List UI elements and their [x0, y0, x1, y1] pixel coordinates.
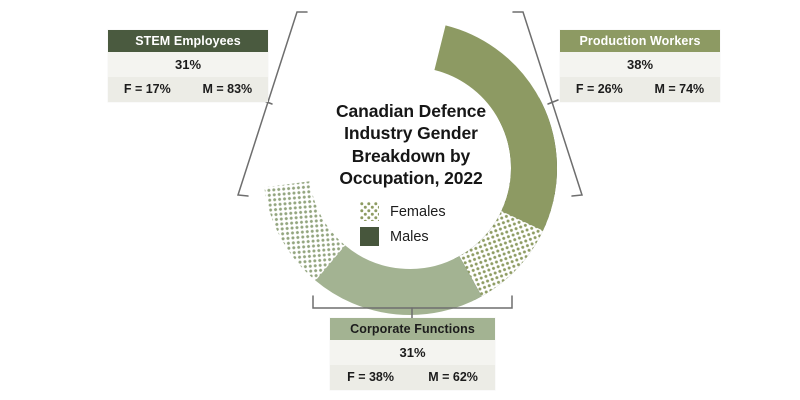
center-title-line-1: Canadian Defence — [300, 100, 522, 122]
chart-center-title: Canadian Defence Industry Gender Breakdo… — [300, 100, 522, 190]
callout-corporate-title: Corporate Functions — [330, 318, 495, 340]
callout-stem-female-value: F = 17% — [124, 77, 171, 102]
callout-production-female-value: F = 26% — [576, 77, 623, 102]
callout-stem-total: 31% — [108, 52, 268, 77]
callout-production-title: Production Workers — [560, 30, 720, 52]
infographic-canvas: Canadian Defence Industry Gender Breakdo… — [0, 0, 800, 400]
callout-stem-split: F = 17% M = 83% — [108, 77, 268, 102]
chart-legend: Females Males — [360, 200, 446, 250]
legend-item-males: Males — [360, 225, 446, 248]
callout-stem-employees: STEM Employees 31% F = 17% M = 83% — [108, 30, 268, 102]
center-title-line-4: Occupation, 2022 — [300, 167, 522, 189]
callout-corporate-functions: Corporate Functions 31% F = 38% M = 62% — [330, 318, 495, 390]
callout-corporate-total: 31% — [330, 340, 495, 365]
callout-production-split: F = 26% M = 74% — [560, 77, 720, 102]
solid-fill-swatch-icon — [360, 227, 379, 246]
callout-production-total: 38% — [560, 52, 720, 77]
callout-stem-male-value: M = 83% — [202, 77, 252, 102]
dotted-pattern-swatch-icon — [360, 202, 379, 221]
center-title-line-2: Industry Gender — [300, 122, 522, 144]
callout-corporate-split: F = 38% M = 62% — [330, 365, 495, 390]
callout-production-workers: Production Workers 38% F = 26% M = 74% — [560, 30, 720, 102]
legend-label-males: Males — [390, 229, 429, 245]
callout-production-male-value: M = 74% — [654, 77, 704, 102]
callout-corporate-female-value: F = 38% — [347, 365, 394, 390]
center-title-line-3: Breakdown by — [300, 145, 522, 167]
callout-corporate-male-value: M = 62% — [428, 365, 478, 390]
legend-label-females: Females — [390, 204, 446, 220]
callout-stem-title: STEM Employees — [108, 30, 268, 52]
legend-item-females: Females — [360, 200, 446, 223]
